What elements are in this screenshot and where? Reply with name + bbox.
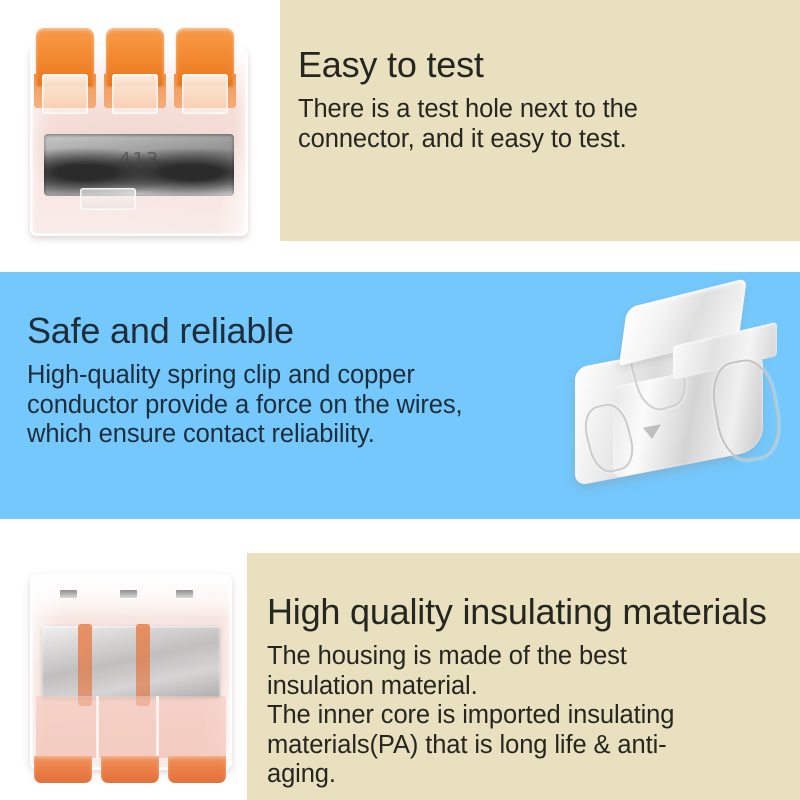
panel-easy-to-test: Easy to test There is a test hole next t… — [280, 0, 800, 241]
internal-spring-2 — [136, 624, 150, 706]
panel-2-body-line-3: which ensure contact reliability. — [27, 420, 547, 450]
housing-lower-chamber — [36, 696, 226, 758]
panel-3-body-line-3: The inner core is imported insulating — [267, 701, 767, 731]
panel-3-body-line-4: materials(PA) that is long life & anti- — [267, 731, 767, 761]
internal-spring-1 — [78, 624, 92, 706]
internal-metal-contact: 413 — [44, 134, 234, 196]
panel-3-body: The housing is made of the best insulati… — [267, 642, 767, 790]
clear-latch-2 — [112, 74, 158, 114]
panel-1-body: There is a test hole next to the connect… — [298, 95, 768, 154]
panel-2-body-line-1: High-quality spring clip and copper — [27, 361, 547, 391]
housing-bottom-slot — [80, 188, 136, 210]
chamber-divider-2 — [156, 696, 159, 758]
orange-foot-3 — [168, 756, 226, 783]
housing-marking-text: 413 — [44, 148, 234, 172]
panel-1-body-line-1: There is a test hole next to the — [298, 95, 768, 125]
panel-2-body: High-quality spring clip and copper cond… — [27, 361, 547, 450]
lever-connector-levers-down-photo — [16, 568, 246, 786]
chamber-divider-1 — [96, 696, 99, 758]
panel-3-title: High quality insulating materials — [267, 591, 800, 633]
panel-3-body-line-1: The housing is made of the best — [267, 642, 767, 672]
orange-foot-1 — [34, 756, 92, 783]
clear-latch-1 — [42, 74, 88, 114]
test-hole-1 — [60, 590, 77, 598]
internal-metal-busbar — [42, 626, 220, 698]
product-feature-infographic: 413 Easy to test There is a test hole ne… — [0, 0, 800, 800]
panel-2-body-line-2: conductor provide a force on the wires, — [27, 391, 547, 421]
metal-spring-clip-photo — [565, 276, 797, 526]
test-hole-3 — [176, 590, 193, 598]
orange-foot-2 — [101, 756, 159, 783]
panel-3-body-line-5: aging. — [267, 760, 767, 790]
panel-1-body-line-2: connector, and it easy to test. — [298, 125, 768, 155]
panel-1-title: Easy to test — [298, 44, 800, 86]
lever-connector-levers-up-photo: 413 — [14, 18, 264, 240]
panel-high-quality-insulating-materials: High quality insulating materials The ho… — [247, 553, 800, 800]
panel-3-body-line-2: insulation material. — [267, 672, 767, 702]
test-hole-2 — [120, 590, 137, 598]
clear-latch-3 — [182, 74, 228, 114]
